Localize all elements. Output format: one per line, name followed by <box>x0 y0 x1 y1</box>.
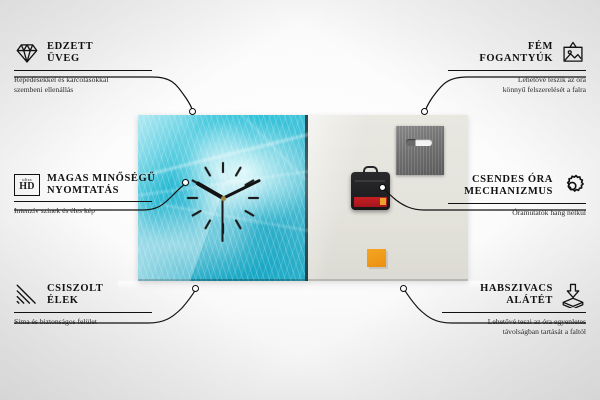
callout-dot-foam <box>400 285 407 292</box>
callout-dot-mechanism <box>379 184 386 191</box>
divider <box>442 312 586 313</box>
feature-polished-edges: CSISZOLT ÉLEK Sima és biztonságos felüle… <box>14 282 154 327</box>
ultra-hd-icon: ultra HD <box>14 174 40 196</box>
callout-dot-tempered-glass <box>189 108 196 115</box>
arrow-onto-pad-icon <box>560 282 586 308</box>
clock-center-cap <box>221 196 226 201</box>
feature-silent-mechanism: CSENDES ÓRA MECHANIZMUS Óramutatók hang … <box>446 173 586 218</box>
clock-front-panel <box>138 115 308 281</box>
callout-dot-print <box>182 179 189 186</box>
hanging-frame-icon <box>560 40 586 66</box>
feature-title: MECHANIZMUS <box>464 186 553 198</box>
foam-pad <box>367 249 386 267</box>
feature-high-quality-print: ultra HD MAGAS MINŐSÉGŰ NYOMTATÁS Intenz… <box>14 173 154 216</box>
clock-mechanism <box>351 172 390 210</box>
feature-title: NYOMTATÁS <box>47 185 155 197</box>
feature-desc: Sima és biztonságos felület <box>14 317 154 327</box>
feature-desc: Repedésekkel és karcolásokkal <box>14 75 154 85</box>
divider <box>14 201 152 202</box>
divider <box>14 312 152 313</box>
clock-back-panel <box>308 115 468 281</box>
feature-desc: Lehetővé teszi az óra egyenletes <box>440 317 586 327</box>
feature-title: FÉM <box>479 41 553 53</box>
feature-tempered-glass: EDZETT ÜVEG Repedésekkel és karcolásokka… <box>14 40 154 94</box>
battery <box>354 197 387 207</box>
feature-desc: könnyű felszerelését a falra <box>446 85 586 95</box>
ultra-hd-icon-bottom: HD <box>19 182 35 192</box>
feature-desc: Óramutatók hang nélkül <box>446 208 586 218</box>
gear-icon <box>560 173 586 199</box>
feature-title: MAGAS MINŐSÉGŰ <box>47 173 155 185</box>
callout-dot-handles <box>421 108 428 115</box>
feature-desc: Intenzív színek és éles kép <box>14 206 154 216</box>
feature-title: ÉLEK <box>47 295 103 307</box>
feature-desc: szembeni ellenállás <box>14 85 154 95</box>
feature-title: CSISZOLT <box>47 283 103 295</box>
metal-hanger <box>396 126 444 175</box>
divider <box>448 203 586 204</box>
feature-desc: Lehetővé teszik az óra <box>446 75 586 85</box>
diamond-icon <box>14 40 40 66</box>
callout-dot-edges <box>192 285 199 292</box>
feature-title: CSENDES ÓRA <box>464 174 553 186</box>
divider <box>14 70 152 71</box>
feature-title: FOGANTYÚK <box>479 53 553 65</box>
divider <box>448 70 586 71</box>
feature-foam-pad: HABSZIVACS ALÁTÉT Lehetővé teszi az óra … <box>440 282 586 336</box>
feature-title: ALÁTÉT <box>480 295 553 307</box>
product-image <box>138 115 468 281</box>
feature-title: ÜVEG <box>47 53 93 65</box>
feature-metal-handles: FÉM FOGANTYÚK Lehetővé teszik az óra kön… <box>446 40 586 94</box>
feature-title: EDZETT <box>47 41 93 53</box>
feature-desc: távolságban tartását a faltól <box>440 327 586 337</box>
feature-title: HABSZIVACS <box>480 283 553 295</box>
beveled-edge-icon <box>14 282 40 308</box>
